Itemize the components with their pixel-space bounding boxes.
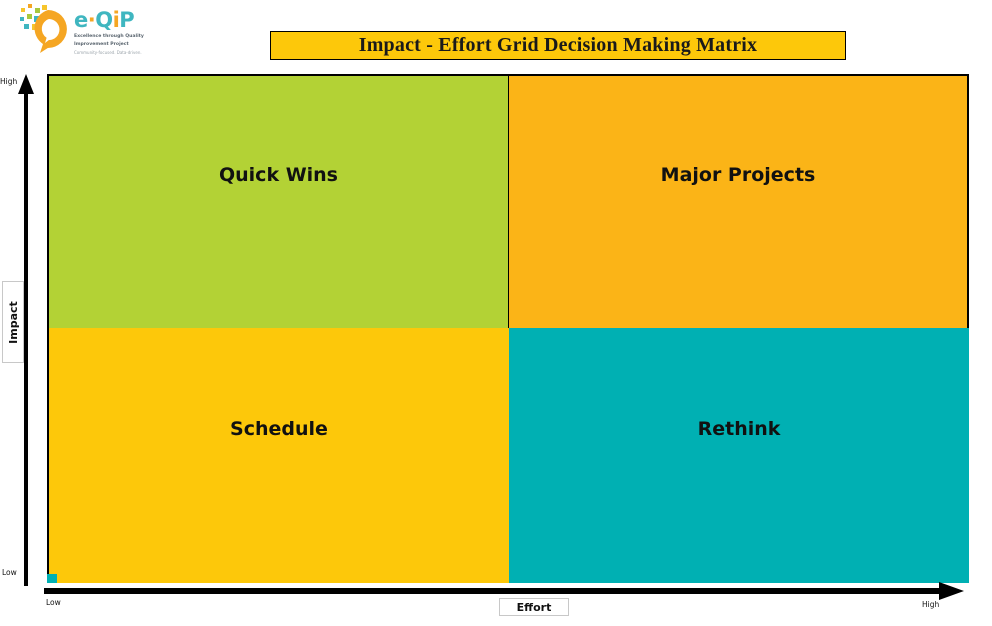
origin-marker [47,574,57,583]
logo-letter-e: e [74,8,88,32]
brand-logo: e·QiP Excellence through Quality Improve… [18,2,198,60]
quadrant-schedule[interactable]: Schedule [47,328,509,583]
logo-letter-q: Q [95,8,112,32]
x-axis-title: Effort [517,601,552,614]
x-axis-high-label: High [922,600,939,609]
quadrant-label-quick-wins: Quick Wins [219,164,338,186]
page-title-banner: Impact - Effort Grid Decision Making Mat… [270,31,846,60]
y-axis-low-label: Low [2,568,17,577]
quadrant-rethink[interactable]: Rethink [509,328,969,583]
logo-wordmark: e·QiP Excellence through Quality Improve… [74,10,194,55]
quadrant-label-schedule: Schedule [230,418,328,440]
logo-tagline-line3: Community-focused. Data-driven. [74,50,194,55]
x-axis-low-label: Low [46,598,61,607]
x-axis-title-box: Effort [499,598,569,616]
page-title: Impact - Effort Grid Decision Making Mat… [359,34,758,57]
quadrant-label-major-projects: Major Projects [661,164,816,186]
y-axis-title-box: Impact [2,281,24,363]
logo-wordmark-text: e·QiP [74,10,194,31]
quadrant-label-rethink: Rethink [698,418,781,440]
logo-tagline-line1: Excellence through Quality [74,34,194,39]
y-axis-high-label: High [0,77,17,86]
quadrant-major-projects[interactable]: Major Projects [509,74,969,328]
logo-tagline-line2: Improvement Project [74,42,194,47]
y-axis-title: Impact [7,301,20,344]
impact-effort-matrix: Quick Wins Major Projects Schedule Rethi… [47,74,969,583]
speech-bubble-q-logo-icon [18,2,76,54]
logo-letter-p: P [119,8,134,32]
quadrant-quick-wins[interactable]: Quick Wins [47,74,509,328]
